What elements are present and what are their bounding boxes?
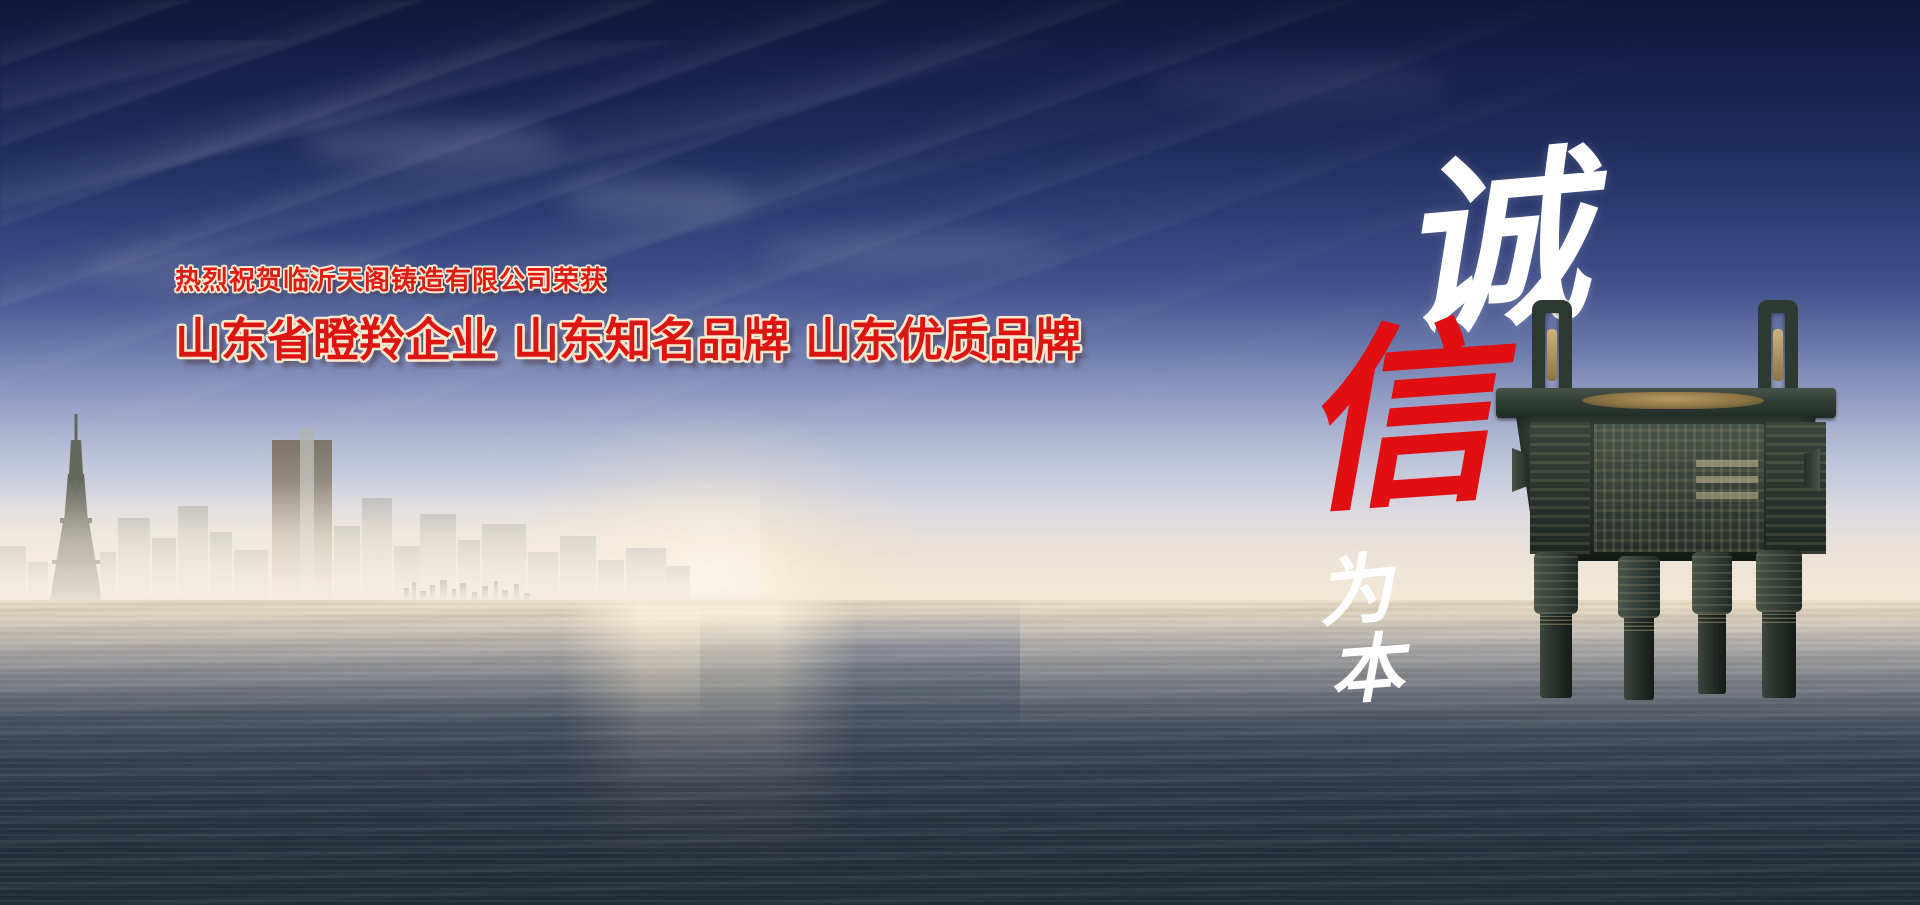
city-haze-overlay	[0, 480, 760, 610]
bronze-ding-vessel-icon	[1490, 300, 1880, 700]
headline-subtitle: 热烈祝贺临沂天阁铸造有限公司荣获	[175, 268, 1075, 294]
headline-block: 热烈祝贺临沂天阁铸造有限公司荣获 山东省瞪羚企业 山东知名品牌 山东优质品牌	[175, 268, 1075, 364]
promotional-banner: 热烈祝贺临沂天阁铸造有限公司荣获 山东省瞪羚企业 山东知名品牌 山东优质品牌 诚…	[0, 0, 1920, 905]
cloud-patch	[300, 120, 560, 166]
ding-leg	[1540, 552, 1572, 698]
ding-handle-left	[1532, 300, 1572, 396]
ding-flange-left	[1512, 448, 1528, 492]
cloud-patch	[1150, 60, 1450, 110]
ding-leg	[1762, 550, 1796, 698]
sun-reflection-path	[560, 600, 860, 870]
cloud-patch	[760, 230, 1060, 268]
ding-flange-right	[1804, 448, 1820, 492]
ding-leg	[1624, 556, 1654, 700]
ding-mouth	[1582, 392, 1764, 409]
ding-side-panel-left	[1530, 422, 1590, 554]
ding-leg	[1698, 552, 1726, 694]
cloud-patch	[560, 178, 750, 218]
ding-handle-right	[1758, 300, 1798, 396]
ding-taotie-glyph	[1696, 450, 1758, 524]
headline-title: 山东省瞪羚企业 山东知名品牌 山东优质品牌	[175, 316, 1075, 364]
